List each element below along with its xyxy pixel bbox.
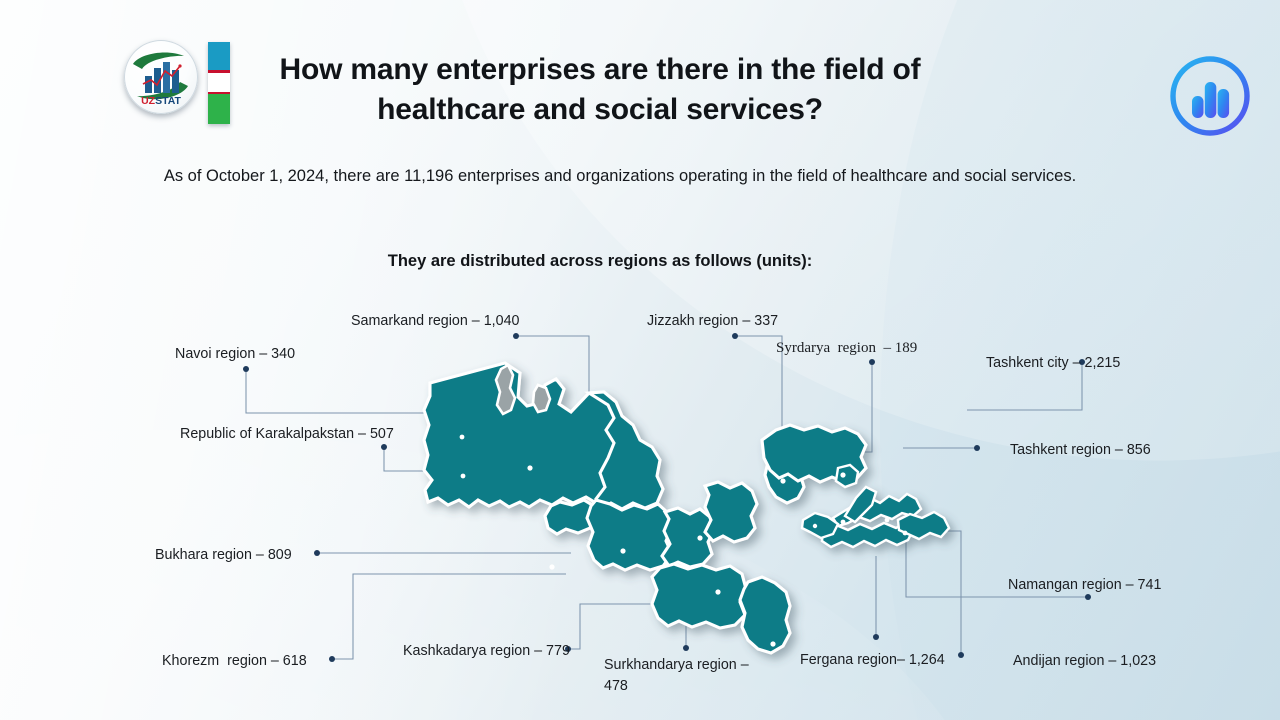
connector-dot-bukhara [314,550,320,556]
map-label-navoi: Navoi region – 340 [175,344,295,365]
city-marker [697,535,702,540]
connector-dot-samarkand [513,333,519,339]
region-samarkand [662,508,714,567]
connector-dot-jizzakh [732,333,738,339]
map-label-jizzakh: Jizzakh region – 337 [647,311,778,332]
map-label-surkhandarya: Surkhandarya region – 478 [604,655,764,698]
region-jizzakh [705,482,757,542]
region-karakalpakstan [424,363,620,507]
map-label-namangan: Namangan region – 741 [1008,575,1161,596]
city-marker [885,518,890,523]
city-marker [813,524,817,528]
city-marker [461,474,466,479]
map-label-kashkadarya: Kashkadarya region – 779 [403,641,570,662]
map-label-tashkent-city: Tashkent city – 2,215 [986,353,1120,374]
region-tashkent-city [836,465,858,487]
map-label-samarkand: Samarkand region – 1,040 [351,311,520,332]
connector-kashkadarya [568,604,668,649]
connector-dot-surkhandarya [683,645,689,651]
connector-dot-khorezm [329,656,335,662]
map-label-andijan: Andijan region – 1,023 [1013,651,1156,672]
connector-jizzakh [735,336,782,437]
city-marker [549,564,554,569]
connector-dot-navoi [243,366,249,372]
city-marker [903,531,908,536]
connector-dot-syrdarya [869,359,875,365]
city-marker [780,478,785,483]
region-bukhara [587,500,672,570]
connector-dot-tashkent-region [974,445,980,451]
city-marker [527,465,532,470]
aral-sea-east-lobe [533,385,550,412]
map-label-fergana: Fergana region– 1,264 [800,650,945,671]
map-label-tashkent-region: Tashkent region – 856 [1010,440,1151,461]
city-marker [715,589,720,594]
city-marker [460,435,465,440]
map-label-bukhara: Bukhara region – 809 [155,545,292,566]
connector-dot-fergana [873,634,879,640]
connector-navoi [246,369,437,413]
region-kashkadarya [652,564,746,628]
connector-andijan [930,531,961,655]
region-valley-neck [802,513,838,538]
map-label-karakalpakstan: Republic of Karakalpakstan – 507 [180,424,394,445]
infographic-canvas: UZSTAT How many enterprises are there in… [0,0,1280,720]
city-marker [770,641,775,646]
map-shape-group [424,363,949,653]
map-label-syrdarya: Syrdarya region – 189 [776,337,917,360]
region-surkhandarya [740,577,790,653]
aral-sea [496,365,515,414]
connector-dot-andijan [958,652,964,658]
map-label-khorezm: Khorezm region – 618 [162,651,307,672]
city-marker [620,548,625,553]
city-marker [841,520,846,525]
city-marker [840,472,845,477]
